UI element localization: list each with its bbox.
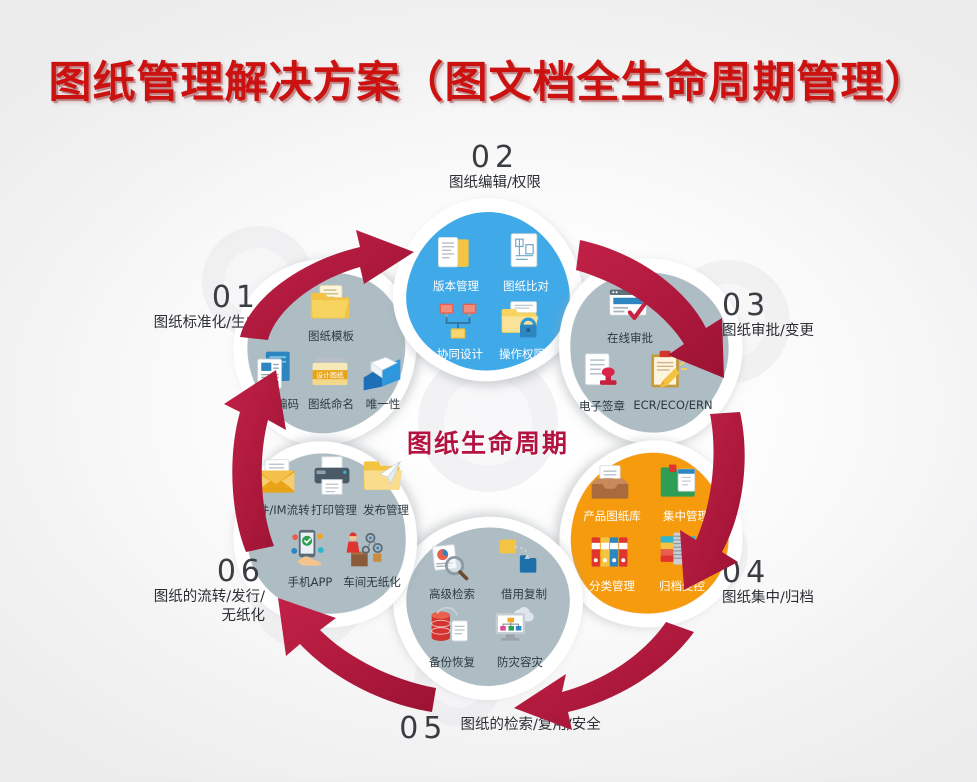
icon-folder-lock-icon <box>498 298 542 342</box>
slide-canvas: 图纸管理解决方案（图文档全生命周期管理） <box>0 0 977 778</box>
caption-04-number: 04 <box>722 557 892 589</box>
icon-browser-checkmark-icon <box>606 284 650 328</box>
icon-blueprint-compare-icon <box>502 230 546 274</box>
icon-zipped-archive-icon <box>656 528 700 572</box>
icon-barcode-document-icon <box>253 348 297 392</box>
center-label: 图纸生命周期 <box>188 424 788 460</box>
icon-binder-row-icon <box>588 530 632 574</box>
caption-06-text-line1: 图纸的流转/发行/ <box>110 588 265 608</box>
icon-magnifier-report-icon <box>428 540 472 584</box>
caption-02: 02 图纸编辑/权限 <box>415 142 575 193</box>
icon-folder-copy-icon <box>496 536 540 580</box>
caption-03: 03 图纸审批/变更 <box>722 290 892 341</box>
label-segment-03-item-2: ECR/ECO/ERN <box>622 398 724 412</box>
caption-01: 01 图纸标准化/生成 <box>120 282 260 333</box>
icon-folder-send-icon <box>362 454 406 498</box>
icon-document-tray-icon <box>588 462 632 506</box>
caption-05: 05 图纸的检索/复用/安全 <box>340 713 660 745</box>
icon-networked-monitors-icon <box>436 300 480 344</box>
icon-clipboard-pencil-icon <box>644 348 688 392</box>
caption-04-text: 图纸集中/归档 <box>722 589 892 609</box>
label-segment-03-item-0: 在线审批 <box>584 330 676 346</box>
icon-stacked-documents-icon <box>432 232 476 276</box>
caption-01-number: 01 <box>120 282 260 314</box>
caption-04: 04 图纸集中/归档 <box>722 557 892 608</box>
label-segment-06-item-4: 车间无纸化 <box>322 574 422 590</box>
icon-database-restore-icon <box>428 608 472 652</box>
svg-text:设计图纸: 设计图纸 <box>316 371 344 380</box>
caption-02-number: 02 <box>415 142 575 174</box>
caption-03-number: 03 <box>722 290 892 322</box>
icon-factory-worker-icon <box>342 526 386 570</box>
caption-01-text: 图纸标准化/生成 <box>120 314 260 334</box>
icon-envelope-mail-icon <box>254 456 298 500</box>
icon-yellow-folder-document-icon <box>308 280 352 324</box>
lifecycle-diagram: 图纸生命周期 图纸模板 图纸编码 <box>188 172 788 712</box>
label-segment-01-item-3: 唯一性 <box>338 396 428 412</box>
caption-05-number: 05 <box>399 713 447 745</box>
caption-06: 06 图纸的流转/发行/ 无纸化 <box>110 556 265 627</box>
caption-06-text-line2: 无纸化 <box>110 607 265 627</box>
label-segment-04-item-1: 集中管理 <box>638 508 734 524</box>
caption-06-number: 06 <box>110 556 265 588</box>
caption-05-text: 图纸的检索/复用/安全 <box>461 716 601 736</box>
label-segment-04-item-3: 归档受控 <box>634 578 730 594</box>
icon-printer-icon <box>310 454 354 498</box>
label-segment-05-item-1: 借用复制 <box>478 586 570 602</box>
label-segment-01-item-0: 图纸模板 <box>286 328 376 344</box>
label-segment-06-item-2: 发布管理 <box>340 502 432 518</box>
page-title: 图纸管理解决方案（图文档全生命周期管理） <box>0 48 977 110</box>
icon-cloud-monitor-icon <box>492 604 536 648</box>
icon-mobile-app-hand-icon <box>286 528 330 572</box>
label-segment-05-item-3: 防灾容灾 <box>474 654 566 670</box>
icon-document-stamp-icon <box>578 350 622 394</box>
caption-03-text: 图纸审批/变更 <box>722 322 892 342</box>
caption-02-text: 图纸编辑/权限 <box>415 174 575 194</box>
icon-green-folder-file-icon <box>658 460 702 504</box>
icon-labeled-folder-icon: 设计图纸 <box>308 350 352 394</box>
